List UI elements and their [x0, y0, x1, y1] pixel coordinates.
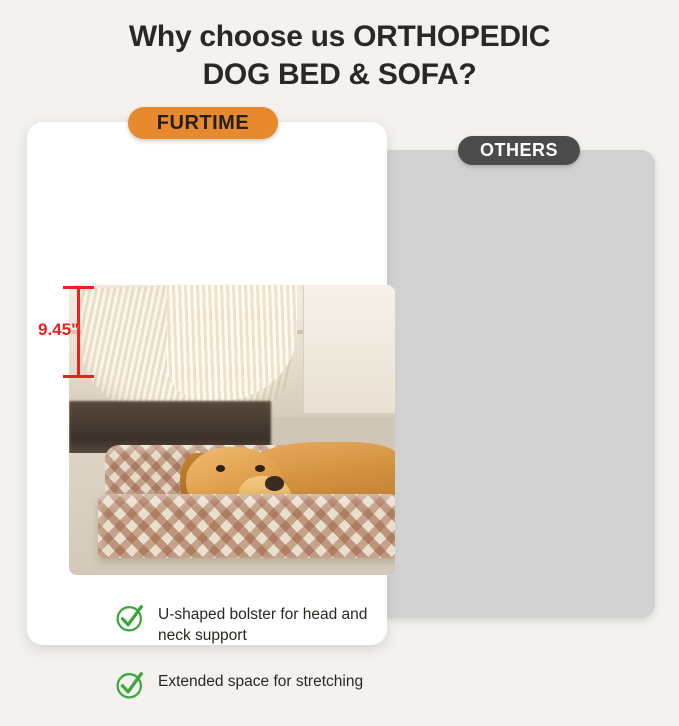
furtime-feature-list: U-shaped bolster for head and neck suppo…: [115, 605, 385, 726]
dimension-value-label: 9.45": [38, 320, 79, 340]
list-item: Extended space for stretching: [115, 672, 385, 700]
list-item-label: Extended space for stretching: [158, 672, 363, 693]
furtime-badge-label: FURTIME: [157, 112, 249, 135]
page-title-line-1: Why choose us ORTHOPEDIC: [0, 18, 679, 56]
retriever-eye-left: [216, 465, 226, 472]
dimension-cap-bottom: [63, 375, 94, 378]
others-badge: OTHERS: [458, 136, 580, 165]
retriever-eye-right: [255, 465, 265, 472]
orthopedic-bed-base: [98, 494, 395, 558]
page-title-line-2: DOG BED & SOFA?: [0, 56, 679, 94]
others-comparison-card: Neck injury without support Borderless c…: [377, 150, 655, 618]
furtime-brand-badge: FURTIME: [128, 107, 278, 139]
check-circle-icon: [115, 603, 145, 633]
retriever-nose: [265, 476, 285, 491]
list-item-label: U-shaped bolster for head and neck suppo…: [158, 605, 385, 646]
others-badge-label: OTHERS: [480, 140, 558, 161]
check-circle-icon: [115, 670, 145, 700]
page-title: Why choose us ORTHOPEDIC DOG BED & SOFA?: [0, 18, 679, 95]
furtime-product-photo: [69, 285, 395, 575]
furtime-comparison-card: U-shaped bolster for head and neck suppo…: [27, 122, 387, 645]
sofa-cushion-right: [303, 285, 395, 413]
list-item: U-shaped bolster for head and neck suppo…: [115, 605, 385, 646]
